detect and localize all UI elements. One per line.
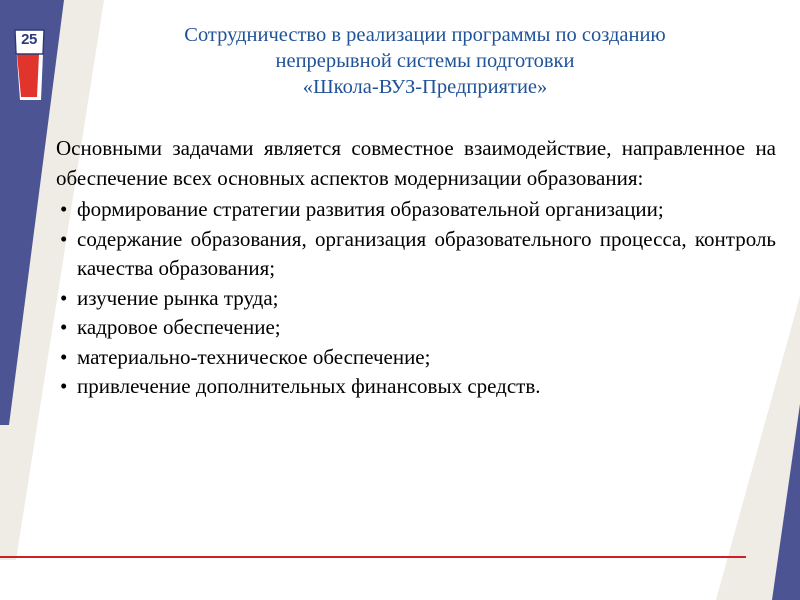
list-item: • содержание образования, организация об…: [56, 225, 776, 284]
list-item-label: формирование стратегии развития образова…: [77, 195, 776, 225]
footer-divider: [0, 556, 746, 558]
anniversary-logo: 25: [8, 28, 50, 102]
intro-paragraph: Основными задачами является совместное в…: [56, 134, 776, 193]
bullet-icon: •: [60, 284, 67, 314]
list-item: • кадровое обеспечение;: [56, 313, 776, 343]
bullet-icon: •: [60, 343, 67, 373]
list-item: • привлечение дополнительных финансовых …: [56, 372, 776, 402]
list-item-label: изучение рынка труда;: [77, 284, 776, 314]
slide-canvas: 25 Сотрудничество в реализации программы…: [0, 0, 800, 600]
bullet-icon: •: [60, 195, 67, 225]
slide-body: Основными задачами является совместное в…: [56, 134, 776, 402]
bullet-icon: •: [60, 313, 67, 343]
list-item-label: содержание образования, организация обра…: [77, 225, 776, 284]
logo-number-label: 25: [17, 31, 41, 49]
title-line-3: «Школа-ВУЗ-Предприятие»: [95, 74, 755, 100]
list-item-label: привлечение дополнительных финансовых ср…: [77, 372, 776, 402]
list-item-label: кадровое обеспечение;: [77, 313, 776, 343]
title-line-1: Сотрудничество в реализации программы по…: [95, 22, 755, 48]
slide-title: Сотрудничество в реализации программы по…: [95, 22, 755, 100]
list-item: • изучение рынка труда;: [56, 284, 776, 314]
right-blue-wedge: [772, 404, 800, 600]
task-list: • формирование стратегии развития образо…: [56, 195, 776, 402]
list-item: • материально-техническое обеспечение;: [56, 343, 776, 373]
bullet-icon: •: [60, 225, 67, 255]
bullet-icon: •: [60, 372, 67, 402]
list-item: • формирование стратегии развития образо…: [56, 195, 776, 225]
list-item-label: материально-техническое обеспечение;: [77, 343, 776, 373]
title-line-2: непрерывной системы подготовки: [95, 48, 755, 74]
